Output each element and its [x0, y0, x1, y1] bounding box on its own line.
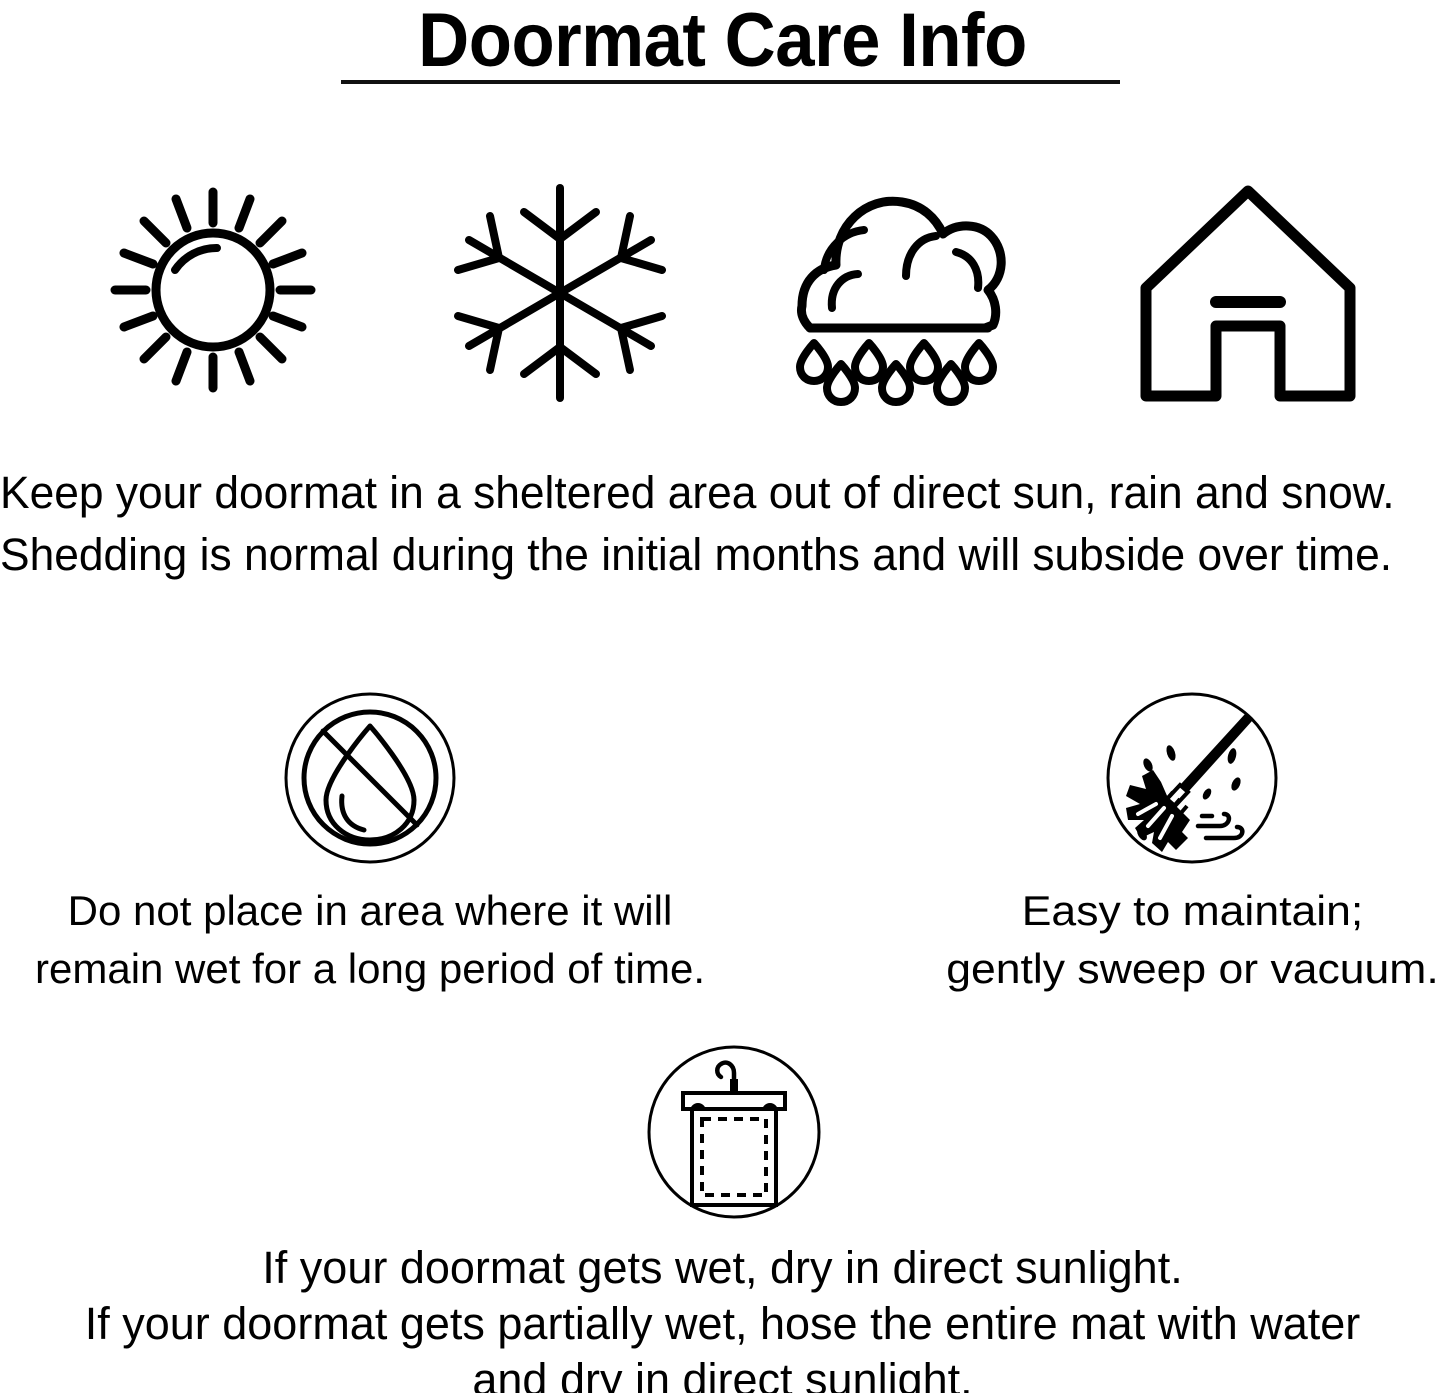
title-block: Doormat Care Info: [0, 0, 1445, 80]
hanging-mat-icon: [645, 1043, 823, 1221]
no-water-icon: [282, 690, 458, 866]
snowflake-icon: [440, 178, 680, 408]
hang-dry-line-2: If your doormat gets partially wet, hose…: [0, 1296, 1445, 1352]
hang-dry-line-1: If your doormat gets wet, dry in direct …: [0, 1240, 1445, 1296]
broom-sweep-icon: [1104, 690, 1280, 866]
no-water-caption-line-2: remain wet for a long period of time.: [0, 940, 740, 998]
no-water-caption-line-1: Do not place in area where it will: [0, 882, 740, 940]
house-icon: [1128, 178, 1368, 408]
rain-cloud-icon: [780, 178, 1020, 408]
title-divider: [341, 80, 1120, 84]
hang-dry-paragraph: If your doormat gets wet, dry in direct …: [0, 1240, 1445, 1393]
intro-line-2: Shedding is normal during the initial mo…: [0, 524, 1423, 586]
intro-paragraph: Keep your doormat in a sheltered area ou…: [0, 462, 1423, 586]
weather-icon-row: [0, 178, 1445, 408]
no-water-caption: Do not place in area where it will remai…: [0, 882, 740, 998]
doormat-care-info-page: Doormat Care Info: [0, 0, 1445, 1393]
page-title: Doormat Care Info: [51, 0, 1395, 80]
broom-caption-line-1: Easy to maintain;: [888, 882, 1445, 940]
broom-caption-line-2: gently sweep or vacuum.: [888, 940, 1445, 998]
hang-dry-line-3: and dry in direct sunlight.: [0, 1352, 1445, 1393]
intro-line-1: Keep your doormat in a sheltered area ou…: [0, 462, 1423, 524]
broom-caption: Easy to maintain; gently sweep or vacuum…: [888, 882, 1445, 998]
sun-icon: [93, 178, 333, 408]
